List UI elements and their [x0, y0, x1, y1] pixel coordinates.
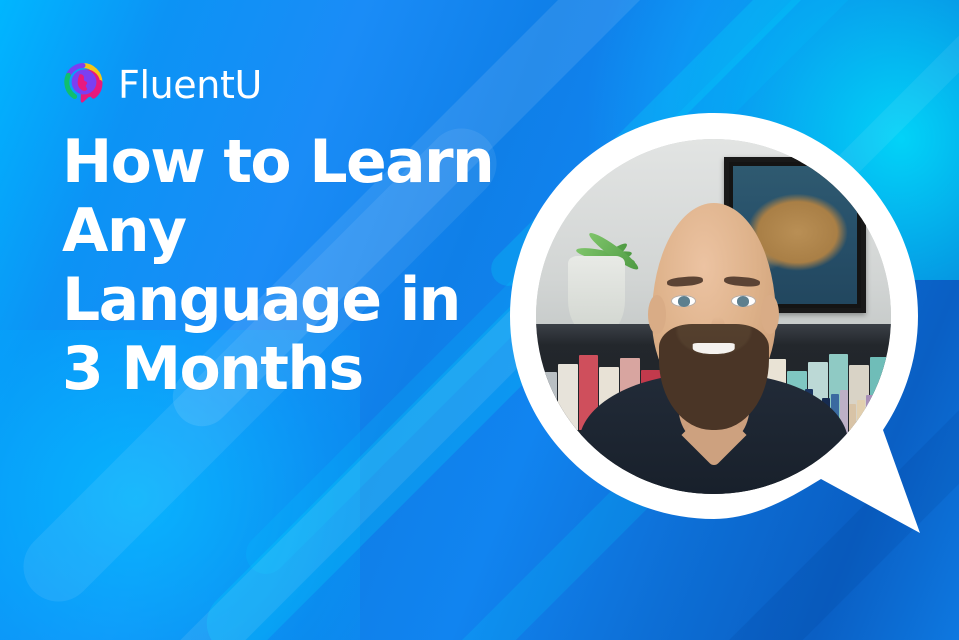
headline-line-2: Any	[62, 197, 562, 266]
plant-vase	[568, 256, 625, 331]
page-title: How to Learn Any Language in 3 Months	[62, 128, 562, 404]
fluentu-wordmark: FluentU	[118, 66, 262, 104]
fluentu-globe-speech-bubble-icon	[62, 62, 106, 108]
headline-line-3: Language in	[62, 266, 562, 335]
book-spine	[866, 395, 874, 447]
presenter-iris-right	[737, 296, 749, 306]
video-thumbnail: FluentU How to Learn Any Language in 3 M…	[0, 0, 959, 640]
headline-line-1: How to Learn	[62, 128, 562, 197]
presenter-portrait	[536, 139, 891, 494]
book-spine	[883, 405, 891, 448]
speech-bubble-avatar	[505, 108, 923, 540]
presenter-ear-left	[648, 295, 666, 334]
book-spine	[857, 400, 865, 448]
book-spine	[875, 391, 883, 448]
book-spine	[849, 404, 857, 448]
fluentu-logo[interactable]: FluentU	[62, 60, 262, 110]
presenter-iris-left	[678, 296, 690, 306]
headline-line-4: 3 Months	[62, 335, 562, 404]
